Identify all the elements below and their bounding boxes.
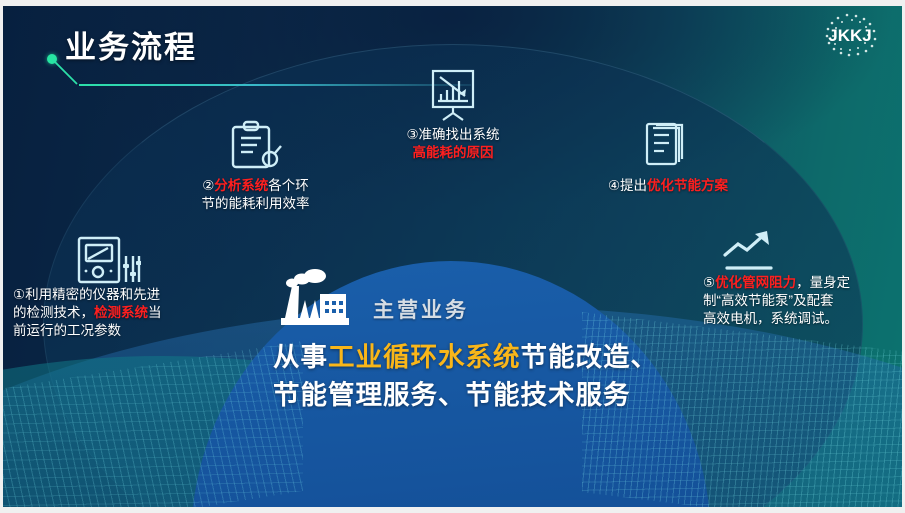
step-node-4[interactable]: ④提出优化节能方案 bbox=[578, 119, 758, 195]
main-business-block: 主营业务 从事工业循环水系统节能改造、节能管理服务、节能技术服务 bbox=[273, 268, 673, 415]
slide-canvas: 业务流程 JKKJ bbox=[3, 6, 902, 507]
step-1-caption: ①利用精密的仪器和先进的检测技术，检测系统当前运行的工况参数 bbox=[13, 286, 228, 341]
factory-icon bbox=[273, 268, 357, 330]
page-title: 业务流程 bbox=[65, 32, 197, 63]
step-node-5[interactable]: ⑤优化管网阻力，量身定制“高效节能泵”及配套高效电机，系统调试。 bbox=[703, 228, 902, 329]
step-node-2[interactable]: ②分析系统各个环节的能耗利用效率 bbox=[173, 119, 338, 213]
step-2-caption: ②分析系统各个环节的能耗利用效率 bbox=[173, 177, 338, 213]
step-node-3[interactable]: ③准确找出系统高能耗的原因 bbox=[363, 68, 543, 162]
clipboard-search-icon bbox=[225, 119, 287, 173]
brand-logo[interactable]: JKKJ bbox=[810, 10, 884, 58]
step-3-caption: ③准确找出系统高能耗的原因 bbox=[363, 126, 543, 162]
main-business-text: 从事工业循环水系统节能改造、节能管理服务、节能技术服务 bbox=[273, 338, 673, 415]
page-title-group: 业务流程 bbox=[47, 32, 197, 63]
logo-text: JKKJ bbox=[828, 26, 871, 45]
step-node-1[interactable]: ①利用精密的仪器和先进的检测技术，检测系统当前运行的工况参数 bbox=[13, 234, 228, 341]
main-business-header: 主营业务 bbox=[273, 268, 673, 330]
main-business-label: 主营业务 bbox=[373, 294, 469, 330]
title-diagonal-line-icon bbox=[51, 60, 79, 86]
measuring-instrument-icon bbox=[75, 234, 141, 286]
step-4-caption: ④提出优化节能方案 bbox=[578, 177, 758, 195]
stacked-documents-icon bbox=[642, 119, 694, 171]
declining-chart-board-icon bbox=[425, 68, 481, 122]
upward-trend-icon bbox=[721, 228, 783, 274]
step-5-caption: ⑤优化管网阻力，量身定制“高效节能泵”及配套高效电机，系统调试。 bbox=[703, 274, 902, 329]
